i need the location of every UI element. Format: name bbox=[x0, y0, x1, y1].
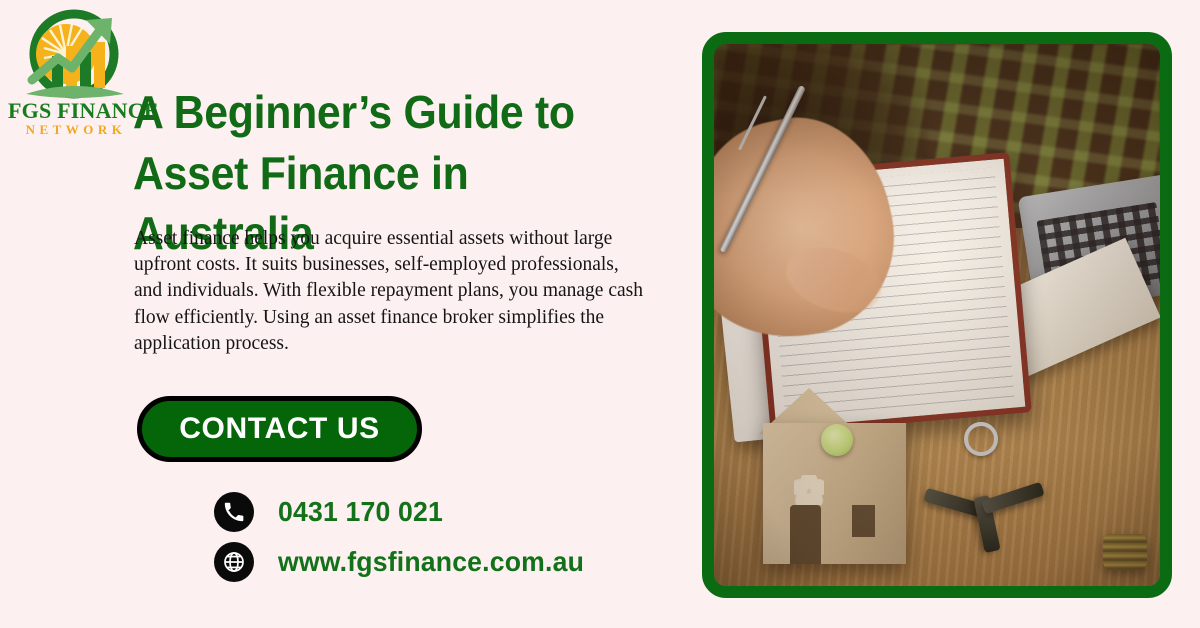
coin-stack bbox=[1103, 534, 1147, 570]
logo-wordmark: FGS FINANCE NETWORK bbox=[8, 100, 140, 136]
content-column: FGS FINANCE NETWORK A Beginner’s Guide t… bbox=[0, 0, 690, 628]
contact-us-button[interactable]: CONTACT US bbox=[137, 396, 422, 462]
body-paragraph: Asset finance helps you acquire essentia… bbox=[134, 226, 646, 357]
globe-icon bbox=[214, 542, 254, 582]
flower-button-decor bbox=[794, 475, 824, 505]
logo-name: FGS FINANCE bbox=[8, 100, 140, 122]
logo-subtitle: NETWORK bbox=[8, 123, 140, 136]
growth-chart-sun-arrow-logo-icon bbox=[20, 8, 128, 108]
contact-row-website[interactable]: www.fgsfinance.com.au bbox=[214, 537, 644, 587]
website-url: www.fgsfinance.com.au bbox=[278, 546, 584, 578]
contact-list: 0431 170 021 www.fgsfinance.com.au bbox=[214, 487, 644, 587]
phone-icon bbox=[214, 492, 254, 532]
contact-row-phone[interactable]: 0431 170 021 bbox=[214, 487, 644, 537]
desk-photo bbox=[714, 44, 1160, 586]
green-button-decor bbox=[821, 424, 853, 456]
promo-banner: FGS FINANCE NETWORK A Beginner’s Guide t… bbox=[0, 0, 1200, 628]
photo-frame bbox=[702, 32, 1172, 598]
brand-logo[interactable]: FGS FINANCE NETWORK bbox=[8, 8, 140, 136]
house-door bbox=[790, 505, 821, 565]
house-window bbox=[852, 505, 874, 538]
phone-number: 0431 170 021 bbox=[278, 496, 443, 528]
key-ring bbox=[964, 422, 998, 456]
